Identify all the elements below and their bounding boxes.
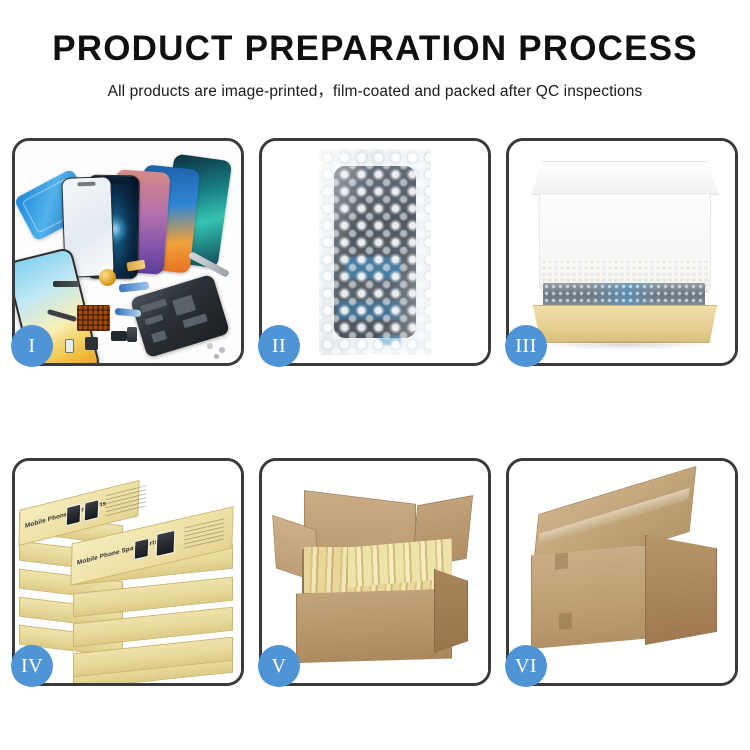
screw-2: [207, 343, 213, 349]
small-module-2: [85, 337, 98, 350]
sealed-carton-front: [531, 545, 647, 649]
speaker-module: [53, 281, 79, 287]
step-panel-3[interactable]: III: [506, 138, 738, 366]
step-6-image: [509, 461, 735, 683]
sealed-carton-scene: [509, 461, 735, 683]
step-panel-4[interactable]: Mobile Phone Spare Parts Mobile Phone Sp…: [12, 458, 244, 686]
label-screen-image-4: [156, 530, 176, 558]
screw-1: [219, 347, 225, 353]
step-5-image: [262, 461, 488, 683]
step-badge-5: V: [258, 645, 300, 687]
flex-cable-2: [115, 308, 142, 317]
gold-coil-component: [99, 269, 116, 286]
bubble-wrap-scene: [262, 141, 488, 363]
carton-seam-mark-2: [559, 612, 572, 629]
label-screen-image-2: [84, 499, 100, 522]
step-panel-5[interactable]: V: [259, 458, 491, 686]
open-carton-scene: [262, 461, 488, 683]
small-module-1: [111, 331, 127, 341]
page-header: PRODUCT PREPARATION PROCESS All products…: [0, 0, 750, 101]
sealed-carton-side: [645, 535, 717, 645]
flex-cable-1: [119, 281, 150, 292]
label-screen-image-1: [66, 503, 82, 526]
box-lid-flap: [531, 161, 719, 195]
sim-tray: [65, 339, 74, 353]
battery-component: [127, 327, 137, 342]
phone-parts-scene: [15, 141, 241, 363]
carton-seam-mark-1: [555, 552, 568, 569]
step-panel-6[interactable]: VI: [506, 458, 738, 686]
phone-notch: [77, 182, 95, 187]
label-spec-text-front: [184, 518, 225, 549]
page-subtitle: All products are image-printed，film-coat…: [0, 79, 750, 101]
copper-mesh-component: [77, 305, 110, 331]
carton-side-panel: [434, 569, 468, 653]
label-screen-image-3: [134, 538, 150, 561]
step-badge-4: IV: [11, 645, 53, 687]
white-mailer-box-scene: [509, 141, 735, 363]
step-4-image: Mobile Phone Spare Parts Mobile Phone Sp…: [15, 461, 241, 683]
step-panel-1[interactable]: I: [12, 138, 244, 366]
box-front-panel: [533, 305, 717, 343]
stacked-boxes-scene: Mobile Phone Spare Parts Mobile Phone Sp…: [15, 461, 241, 683]
box-shadow: [539, 341, 711, 350]
carton-front-panel: [296, 589, 452, 663]
step-badge-2: II: [258, 325, 300, 367]
plastic-sheen: [319, 149, 431, 355]
step-panel-2[interactable]: II: [259, 138, 491, 366]
screw-3: [214, 354, 219, 359]
step-badge-6: VI: [505, 645, 547, 687]
bubble-wrap-sleeve: [319, 149, 431, 355]
step-badge-1: I: [11, 325, 53, 367]
step-3-image: [509, 141, 735, 363]
page-title: PRODUCT PREPARATION PROCESS: [0, 30, 750, 69]
process-step-grid: I II: [12, 138, 738, 694]
step-1-image: [15, 141, 241, 363]
label-spec-text-back: [106, 485, 147, 517]
step-2-image: [262, 141, 488, 363]
step-badge-3: III: [505, 325, 547, 367]
